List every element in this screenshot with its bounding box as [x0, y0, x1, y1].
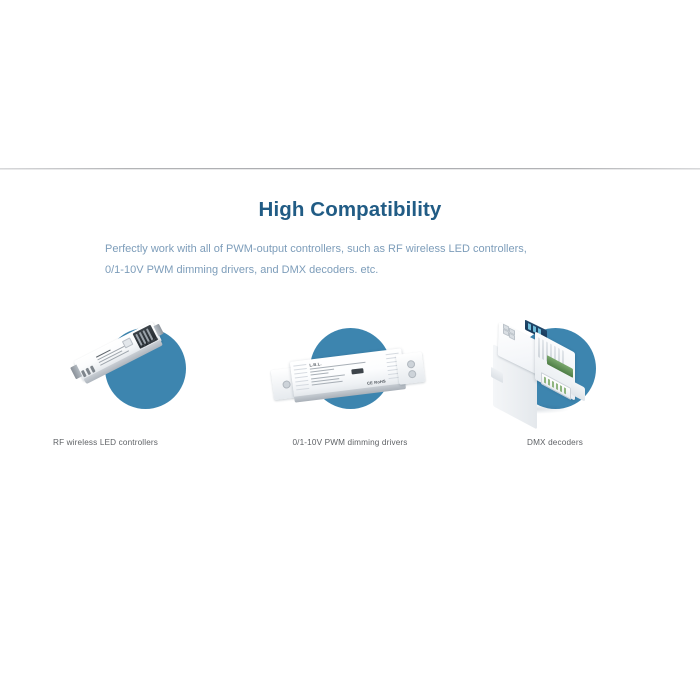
rf-wireless-led-controller-icon: CE RoHS	[74, 321, 165, 385]
device-image-dmx-decoder	[455, 310, 655, 440]
page-title: High Compatibility	[0, 198, 700, 222]
description-line-2: 0/1-10V PWM dimming drivers, and DMX dec…	[105, 260, 605, 281]
product-card-rf-controller: CE RoHS RF wireless LED controllers	[45, 310, 245, 480]
mounting-flange-right	[396, 352, 425, 385]
driver-housing: L.B.L. CE RoHS	[290, 348, 406, 397]
section-description: Perfectly work with all of PWM-output co…	[105, 239, 605, 281]
product-showcase-row: CE RoHS RF wireless LED controllers	[0, 310, 700, 480]
device-image-pwm-driver: L.B.L. CE RoHS	[250, 310, 450, 440]
screw-hole-icon	[407, 359, 416, 368]
certification-marks-label: CE RoHS	[367, 378, 386, 385]
product-caption: RF wireless LED controllers	[53, 438, 243, 447]
pwm-dimming-driver-icon: L.B.L. CE RoHS	[270, 346, 426, 406]
screw-hole-icon	[282, 380, 291, 389]
product-card-dmx-decoder: DMX decoders	[455, 310, 655, 480]
product-card-pwm-driver: L.B.L. CE RoHS 0/1-10V PWM dimming drive…	[250, 310, 450, 480]
product-caption: 0/1-10V PWM dimming drivers	[250, 438, 450, 447]
device-image-rf-controller: CE RoHS	[45, 310, 245, 440]
screw-hole-icon	[408, 370, 417, 379]
high-compatibility-section: High Compatibility Perfectly work with a…	[0, 170, 700, 700]
vent-slots-left-icon	[293, 364, 309, 392]
top-blank-panel	[0, 0, 700, 170]
description-line-1: Perfectly work with all of PWM-output co…	[105, 239, 605, 260]
product-caption: DMX decoders	[455, 438, 655, 447]
driver-base-face	[294, 383, 406, 403]
dmx-decoder-icon	[491, 318, 611, 430]
